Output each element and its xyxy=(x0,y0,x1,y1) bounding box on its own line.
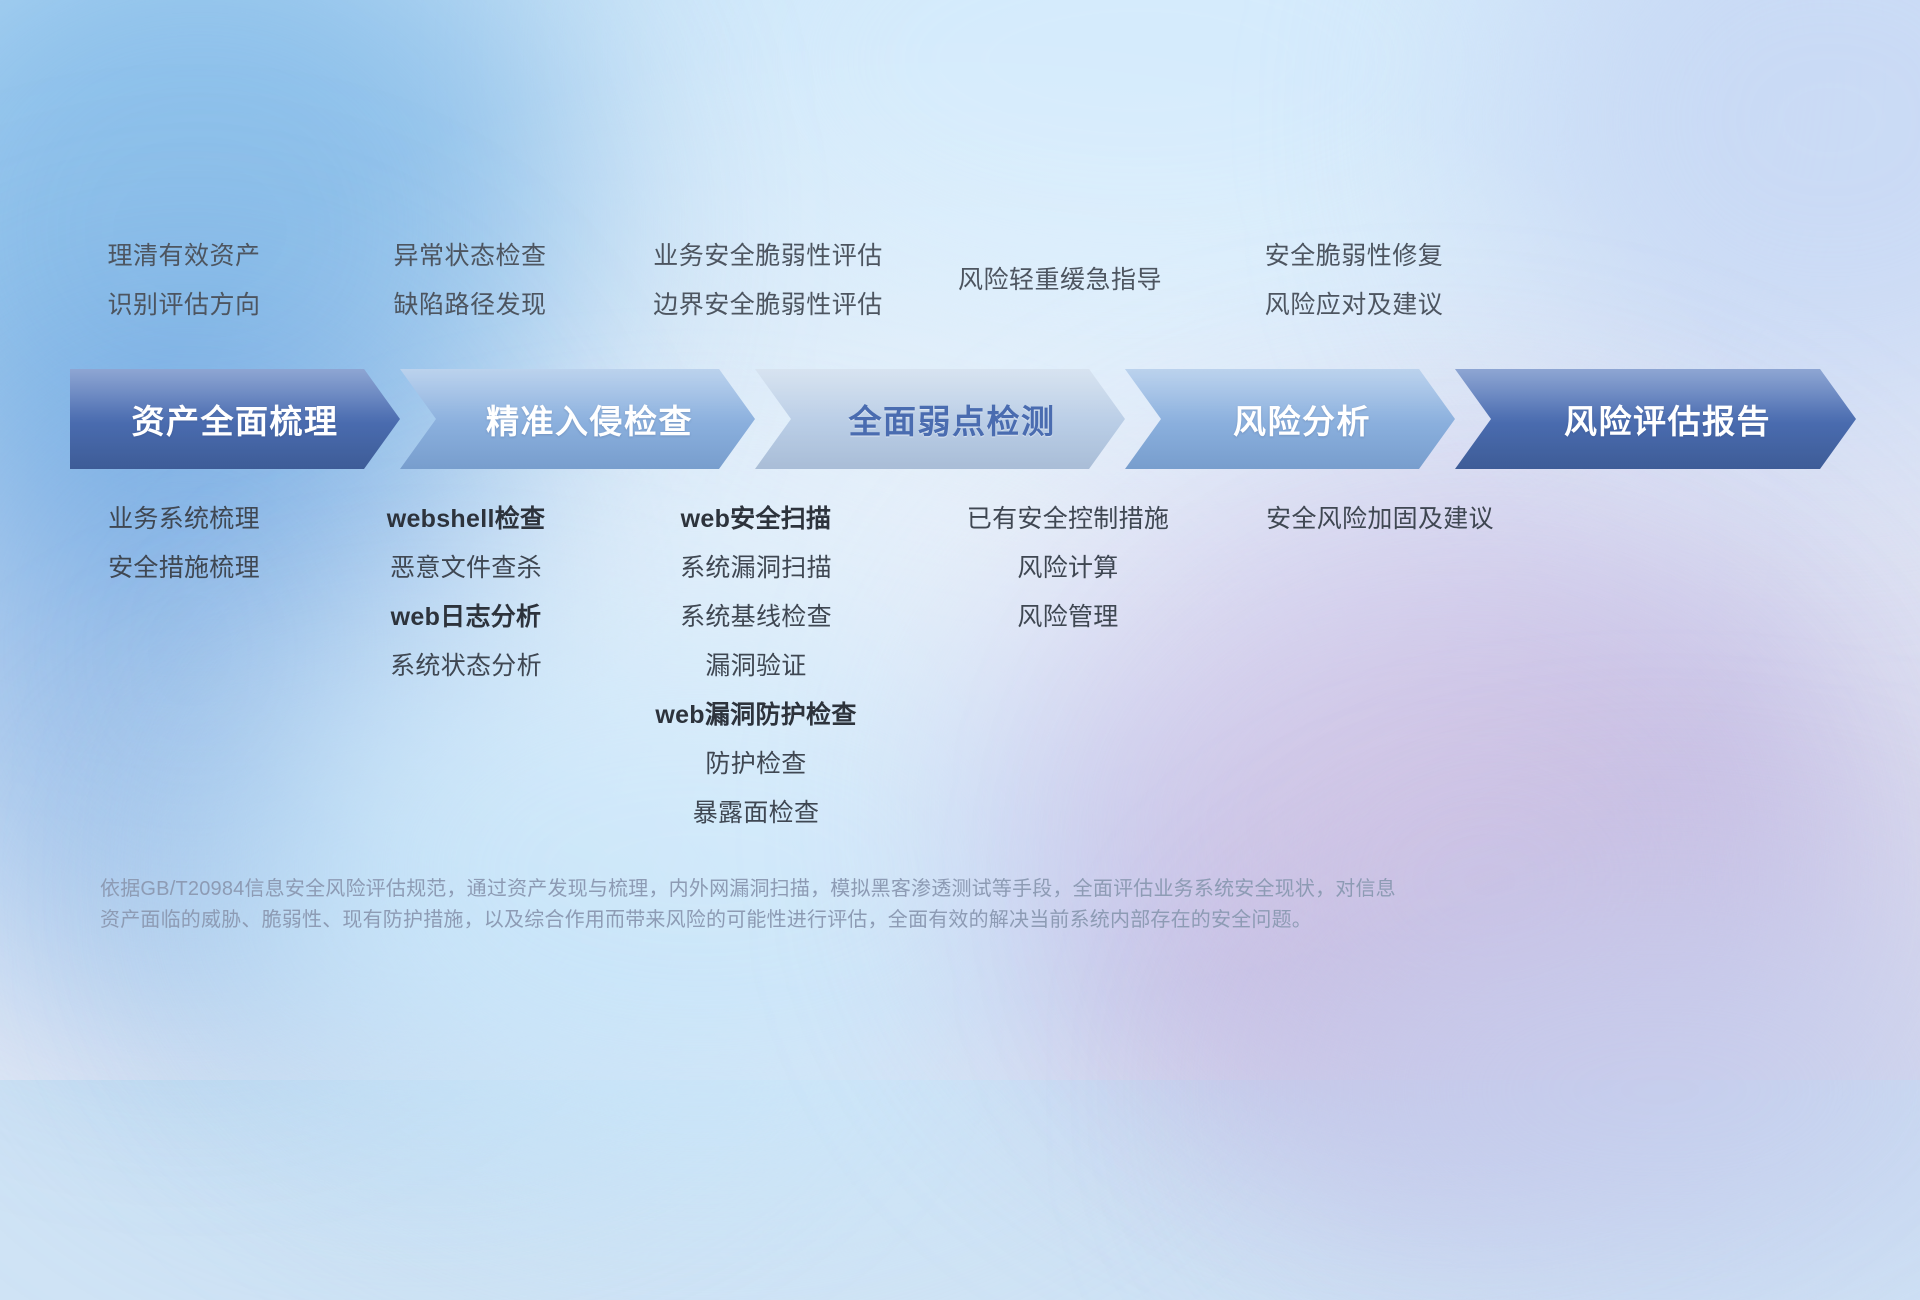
footer-description: 依据GB/T20984信息安全风险评估规范，通过资产发现与梳理，内外网漏洞扫描，… xyxy=(100,874,1660,936)
bottom-label-group-risk-analysis: 已有安全控制措施风险计算风险管理 xyxy=(967,495,1169,642)
bottom-label: 业务系统梳理 xyxy=(108,495,260,544)
top-label: 缺陷路径发现 xyxy=(393,281,546,330)
chevron-stage-weakness-detection[interactable]: 全面弱点检测 xyxy=(755,369,1125,469)
top-label: 风险应对及建议 xyxy=(1265,281,1444,330)
chevron-title-intrusion-check: 精准入侵检查 xyxy=(486,395,693,443)
footer-line-2: 资产面临的威胁、脆弱性、现有防护措施，以及综合作用而带来风险的可能性进行评估，全… xyxy=(100,905,1660,936)
top-label-group-risk-report: 安全脆弱性修复风险应对及建议 xyxy=(1265,232,1444,330)
chevron-title-risk-analysis: 风险分析 xyxy=(1233,395,1371,443)
chevron-title-risk-report: 风险评估报告 xyxy=(1564,395,1771,443)
bottom-label: 系统基线检查 xyxy=(680,593,832,642)
chevron-title-weakness-detection: 全面弱点检测 xyxy=(849,395,1056,443)
top-label: 识别评估方向 xyxy=(107,281,260,330)
bottom-label: 风险计算 xyxy=(1017,544,1118,593)
bottom-label-group-asset-inventory: 业务系统梳理安全措施梳理 xyxy=(108,495,260,593)
bottom-label: webshell检查 xyxy=(387,495,546,544)
chevron-stage-risk-report[interactable]: 风险评估报告 xyxy=(1455,369,1856,469)
top-label: 边界安全脆弱性评估 xyxy=(653,281,883,330)
top-label: 安全脆弱性修复 xyxy=(1265,232,1444,281)
bottom-label: 安全措施梳理 xyxy=(108,544,260,593)
top-label: 异常状态检查 xyxy=(393,232,546,281)
footer-line-1: 依据GB/T20984信息安全风险评估规范，通过资产发现与梳理，内外网漏洞扫描，… xyxy=(100,874,1660,905)
bottom-label: web安全扫描 xyxy=(681,495,832,544)
chevron-title-asset-inventory: 资产全面梳理 xyxy=(132,395,339,443)
bottom-label-group-risk-report: 安全风险加固及建议 xyxy=(1266,495,1494,544)
bottom-label-group-weakness-detection: web安全扫描系统漏洞扫描系统基线检查漏洞验证web漏洞防护检查防护检查暴露面检… xyxy=(655,495,856,838)
top-label: 理清有效资产 xyxy=(107,232,260,281)
chevron-band: 资产全面梳理精准入侵检查全面弱点检测风险分析风险评估报告 xyxy=(70,369,1856,469)
chevron-stage-intrusion-check[interactable]: 精准入侵检查 xyxy=(400,369,755,469)
top-label: 风险轻重缓急指导 xyxy=(958,256,1162,305)
top-label-group-weakness-detection: 业务安全脆弱性评估边界安全脆弱性评估 xyxy=(653,232,883,330)
bottom-label: 恶意文件查杀 xyxy=(390,544,542,593)
top-label-group-risk-analysis: 风险轻重缓急指导 xyxy=(958,256,1162,305)
bottom-label: 暴露面检查 xyxy=(693,789,820,838)
bottom-label-group-intrusion-check: webshell检查恶意文件查杀web日志分析系统状态分析 xyxy=(387,495,546,691)
chevron-stage-asset-inventory[interactable]: 资产全面梳理 xyxy=(70,369,400,469)
top-label: 业务安全脆弱性评估 xyxy=(653,232,883,281)
bottom-label: 已有安全控制措施 xyxy=(967,495,1169,544)
top-label-group-asset-inventory: 理清有效资产识别评估方向 xyxy=(107,232,260,330)
bottom-label: 系统状态分析 xyxy=(390,642,542,691)
bottom-label: 安全风险加固及建议 xyxy=(1266,495,1494,544)
bottom-label: 漏洞验证 xyxy=(705,642,806,691)
bottom-label: 风险管理 xyxy=(1017,593,1118,642)
bottom-label: 系统漏洞扫描 xyxy=(680,544,832,593)
chevron-stage-risk-analysis[interactable]: 风险分析 xyxy=(1125,369,1455,469)
top-label-group-intrusion-check: 异常状态检查缺陷路径发现 xyxy=(393,232,546,330)
bottom-label: web漏洞防护检查 xyxy=(655,691,856,740)
diagram-stage: 理清有效资产识别评估方向异常状态检查缺陷路径发现业务安全脆弱性评估边界安全脆弱性… xyxy=(0,0,1920,1080)
bottom-label: web日志分析 xyxy=(391,593,542,642)
bottom-label: 防护检查 xyxy=(705,740,806,789)
